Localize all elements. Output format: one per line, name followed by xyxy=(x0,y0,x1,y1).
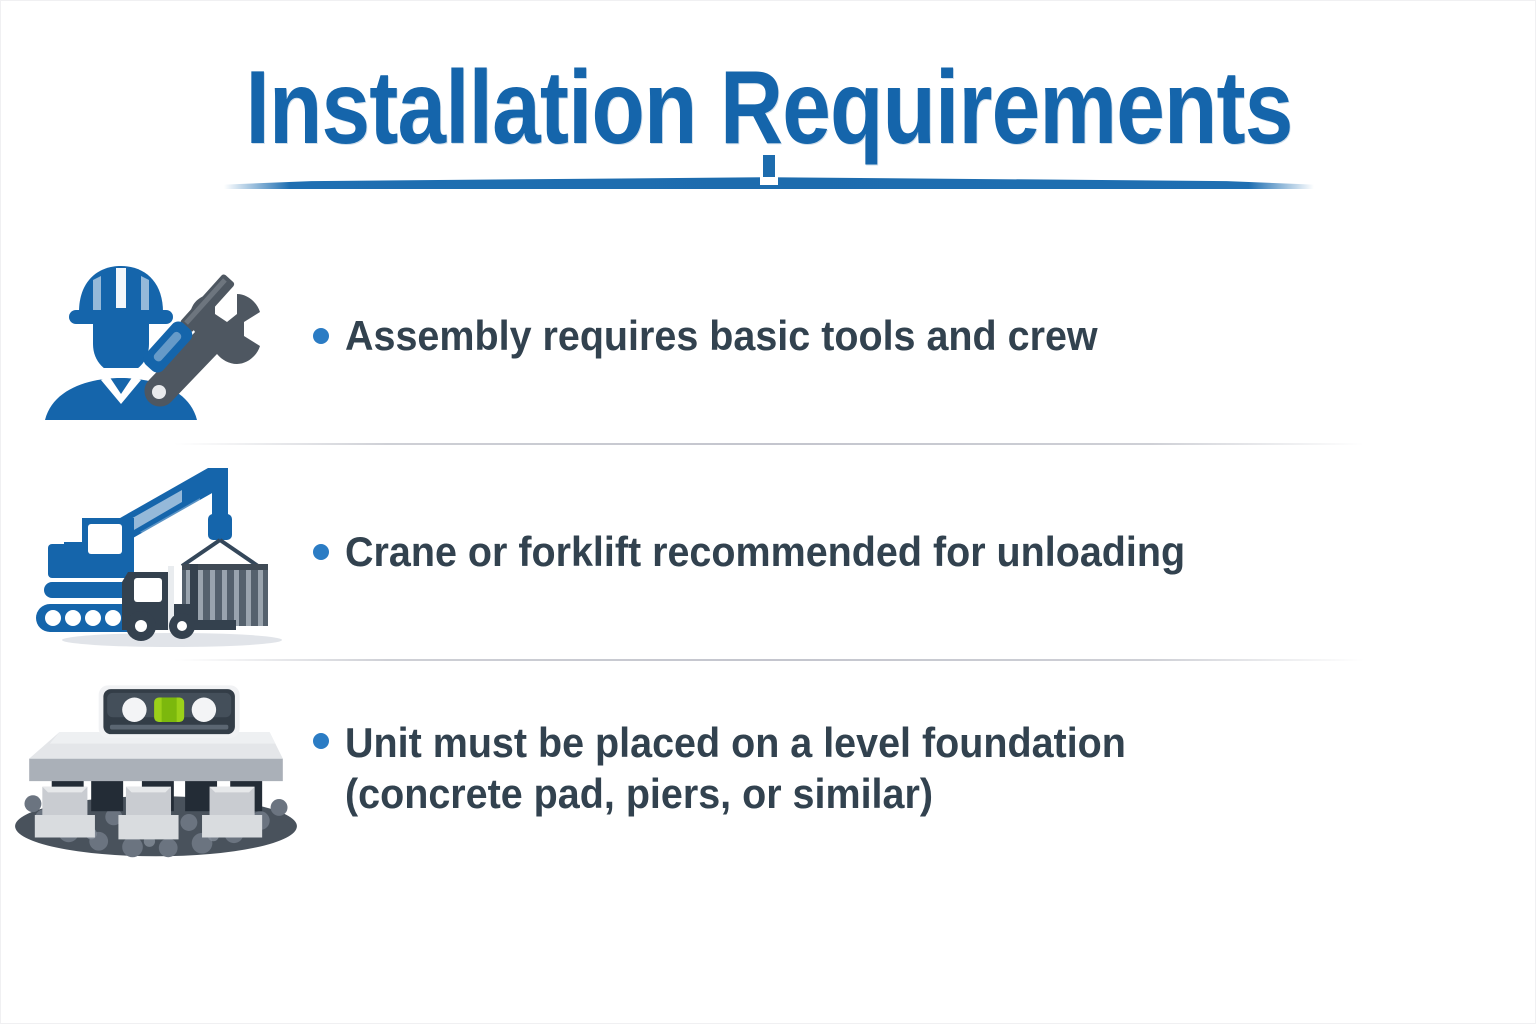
requirement-text-foundation: Unit must be placed on a level foundatio… xyxy=(345,717,1126,819)
level-foundation-icon xyxy=(1,668,311,868)
requirement-body-assembly: Assembly requires basic tools and crew xyxy=(311,310,1536,361)
requirement-text-unloading: Crane or forklift recommended for unload… xyxy=(345,526,1185,577)
requirement-row-foundation: Unit must be placed on a level foundatio… xyxy=(1,661,1536,875)
requirement-text-assembly: Assembly requires basic tools and crew xyxy=(345,310,1098,361)
page-title: Installation Requirements xyxy=(124,53,1414,163)
requirement-body-foundation: Unit must be placed on a level foundatio… xyxy=(311,717,1536,819)
worker-tools-icon xyxy=(1,236,311,436)
requirement-row-assembly: Assembly requires basic tools and crew xyxy=(1,229,1536,443)
requirements-list: Assembly requires basic tools and crew xyxy=(1,229,1536,875)
crane-forklift-icon xyxy=(1,452,311,652)
title-underline-tick xyxy=(763,155,775,177)
title-underline xyxy=(224,171,1314,191)
requirement-body-unloading: Crane or forklift recommended for unload… xyxy=(311,526,1536,577)
bullet-dot-icon xyxy=(313,544,329,560)
bullet-dot-icon xyxy=(313,733,329,749)
installation-requirements-slide: Installation Requirements xyxy=(0,0,1536,1024)
title-block: Installation Requirements xyxy=(1,53,1536,191)
bullet-dot-icon xyxy=(313,328,329,344)
requirement-row-unloading: Crane or forklift recommended for unload… xyxy=(1,445,1536,659)
